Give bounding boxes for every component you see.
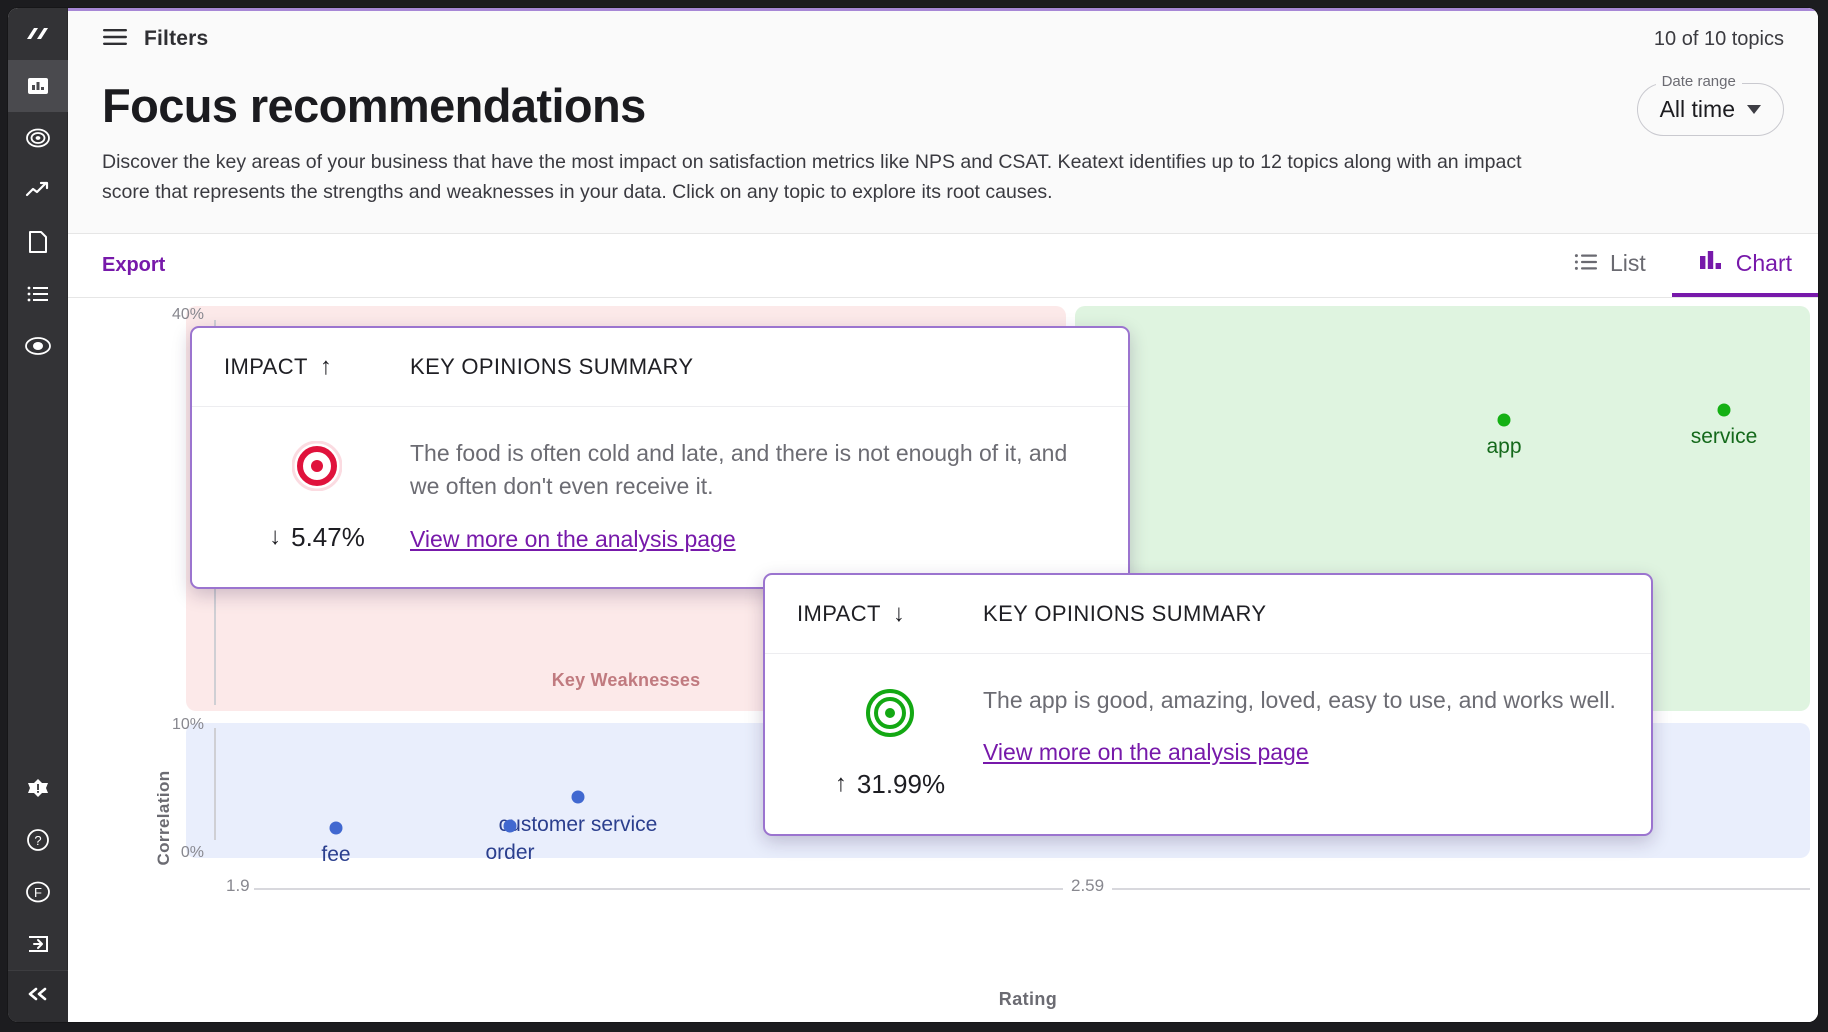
filters-label: Filters xyxy=(144,27,208,51)
data-point-customer-service[interactable] xyxy=(572,790,585,803)
svg-text:F: F xyxy=(34,885,42,900)
list-icon xyxy=(26,285,50,303)
tooltip-impact-label: IMPACT xyxy=(224,354,308,380)
sidebar-bottom-group: ? F xyxy=(8,762,68,970)
chevron-down-icon xyxy=(1747,105,1761,114)
chart-area: Key Weaknesses 40% 10% 0% Correlation 1.… xyxy=(68,298,1818,1022)
bar-chart-icon xyxy=(26,74,50,98)
tooltip-impact-label: IMPACT xyxy=(797,601,881,627)
application-window: ? F xyxy=(8,8,1818,1022)
scatter-plot: Key Weaknesses 40% 10% 0% Correlation 1.… xyxy=(68,298,1818,1022)
y-tick-10: 10% xyxy=(172,716,204,734)
filters-button[interactable]: Filters xyxy=(102,27,208,51)
target-icon xyxy=(25,125,51,151)
tooltip-analysis-link[interactable]: View more on the analysis page xyxy=(983,739,1619,766)
quadrant-label-weaknesses: Key Weaknesses xyxy=(552,670,701,691)
main-content: Filters 10 of 10 topics Focus recommenda… xyxy=(68,8,1818,1022)
list-view-icon xyxy=(1574,250,1598,277)
data-point-label-service[interactable]: service xyxy=(1691,425,1758,449)
arrow-down-icon: ↓ xyxy=(893,602,905,626)
sidebar-item-logout[interactable] xyxy=(8,918,68,970)
document-icon xyxy=(27,229,49,255)
data-point-label-app[interactable]: app xyxy=(1486,435,1521,459)
tooltip-body: ↑ 31.99% The app is good, amazing, loved… xyxy=(765,654,1651,834)
logout-icon xyxy=(25,933,51,955)
date-range-selector[interactable]: Date range All time xyxy=(1637,83,1784,136)
page-description: Discover the key areas of your business … xyxy=(102,148,1542,207)
arrow-down-icon: ↓ xyxy=(269,525,281,549)
tooltip-text-column: The food is often cold and late, and the… xyxy=(410,437,1096,553)
f-circle-icon: F xyxy=(25,880,51,904)
left-sidebar: ? F xyxy=(8,8,68,1022)
tooltip-summary-header: KEY OPINIONS SUMMARY xyxy=(410,354,693,380)
sidebar-item-focus[interactable] xyxy=(8,112,68,164)
tooltip-impact-value: ↑ 31.99% xyxy=(835,769,945,800)
data-point-service[interactable] xyxy=(1718,403,1731,416)
view-toggle-group: List Chart xyxy=(1548,234,1818,297)
tooltip-impact-percent: 5.47% xyxy=(291,522,365,553)
strength-tooltip-card[interactable]: IMPACT ↓ KEY OPINIONS SUMMARY xyxy=(763,573,1653,836)
sidebar-item-dashboard[interactable] xyxy=(8,60,68,112)
sidebar-item-account[interactable]: F xyxy=(8,866,68,918)
tooltip-impact-header: IMPACT ↓ xyxy=(797,601,983,627)
sidebar-item-help[interactable]: ? xyxy=(8,814,68,866)
data-point-label-fee[interactable]: fee xyxy=(321,843,350,867)
tooltip-opinion-text: The app is good, amazing, loved, easy to… xyxy=(983,684,1619,717)
keatext-logo-icon xyxy=(25,26,51,42)
tab-list-view[interactable]: List xyxy=(1548,234,1672,297)
chart-view-icon xyxy=(1698,249,1724,277)
target-green-icon xyxy=(865,688,915,743)
sidebar-item-list[interactable] xyxy=(8,268,68,320)
chevron-double-left-icon xyxy=(25,986,51,1007)
tooltip-header: IMPACT ↓ KEY OPINIONS SUMMARY xyxy=(765,575,1651,654)
sidebar-item-documents[interactable] xyxy=(8,216,68,268)
sidebar-item-trends[interactable] xyxy=(8,164,68,216)
tab-list-label: List xyxy=(1610,250,1646,277)
sidebar-item-topics[interactable] xyxy=(8,320,68,372)
page-header: Filters 10 of 10 topics Focus recommenda… xyxy=(68,11,1818,234)
tooltip-body: ↓ 5.47% The food is often cold and late,… xyxy=(192,407,1128,587)
tooltip-impact-percent: 31.99% xyxy=(857,769,945,800)
y-tick-40: 40% xyxy=(172,306,204,324)
date-range-value: All time xyxy=(1660,96,1735,123)
hamburger-icon xyxy=(102,28,128,51)
x-tick-start: 1.9 xyxy=(226,876,250,896)
y-tick-0: 0% xyxy=(181,844,204,862)
tooltip-summary-header: KEY OPINIONS SUMMARY xyxy=(983,601,1266,627)
export-button[interactable]: Export xyxy=(102,254,165,277)
circle-target-icon xyxy=(24,335,52,357)
weakness-tooltip-card[interactable]: IMPACT ↑ KEY OPINIONS SUMMARY xyxy=(190,326,1130,589)
arrow-up-icon: ↑ xyxy=(320,355,332,379)
tooltip-impact-header: IMPACT ↑ xyxy=(224,354,410,380)
data-point-order[interactable] xyxy=(504,819,517,832)
data-point-label-customer-service[interactable]: customer service xyxy=(499,813,658,837)
target-red-icon xyxy=(292,441,342,496)
topics-count: 10 of 10 topics xyxy=(1654,28,1784,51)
question-circle-icon: ? xyxy=(26,828,50,852)
arrow-up-icon: ↑ xyxy=(835,772,847,796)
tooltip-impact-column: ↓ 5.47% xyxy=(224,437,410,553)
sidebar-item-logo[interactable] xyxy=(8,8,68,60)
data-point-app[interactable] xyxy=(1498,413,1511,426)
tooltip-header: IMPACT ↑ KEY OPINIONS SUMMARY xyxy=(192,328,1128,407)
x-axis-label: Rating xyxy=(999,989,1057,1010)
x-axis-line xyxy=(254,888,1810,890)
y-axis-label: Correlation xyxy=(154,770,174,865)
tooltip-impact-value: ↓ 5.47% xyxy=(269,522,365,553)
data-point-fee[interactable] xyxy=(330,821,343,834)
x-tick-mid: 2.59 xyxy=(1063,876,1112,896)
data-point-label-order[interactable]: order xyxy=(485,841,534,865)
date-range-legend: Date range xyxy=(1656,73,1742,90)
svg-text:?: ? xyxy=(34,833,41,848)
top-bar: Filters 10 of 10 topics xyxy=(102,11,1784,67)
alert-badge-icon xyxy=(25,777,51,799)
tooltip-impact-column: ↑ 31.99% xyxy=(797,684,983,800)
tooltip-opinion-text: The food is often cold and late, and the… xyxy=(410,437,1096,504)
y-axis-line-lower xyxy=(214,728,216,840)
view-toolbar: Export List xyxy=(68,234,1818,298)
page-title: Focus recommendations xyxy=(102,81,1784,130)
trend-line-icon xyxy=(25,180,51,200)
sidebar-item-alerts[interactable] xyxy=(8,762,68,814)
sidebar-collapse-button[interactable] xyxy=(8,970,68,1022)
tooltip-text-column: The app is good, amazing, loved, easy to… xyxy=(983,684,1619,800)
app-root: ? F xyxy=(0,0,1828,1032)
tab-chart-label: Chart xyxy=(1736,250,1792,277)
tooltip-analysis-link[interactable]: View more on the analysis page xyxy=(410,526,1096,553)
tab-chart-view[interactable]: Chart xyxy=(1672,234,1818,297)
